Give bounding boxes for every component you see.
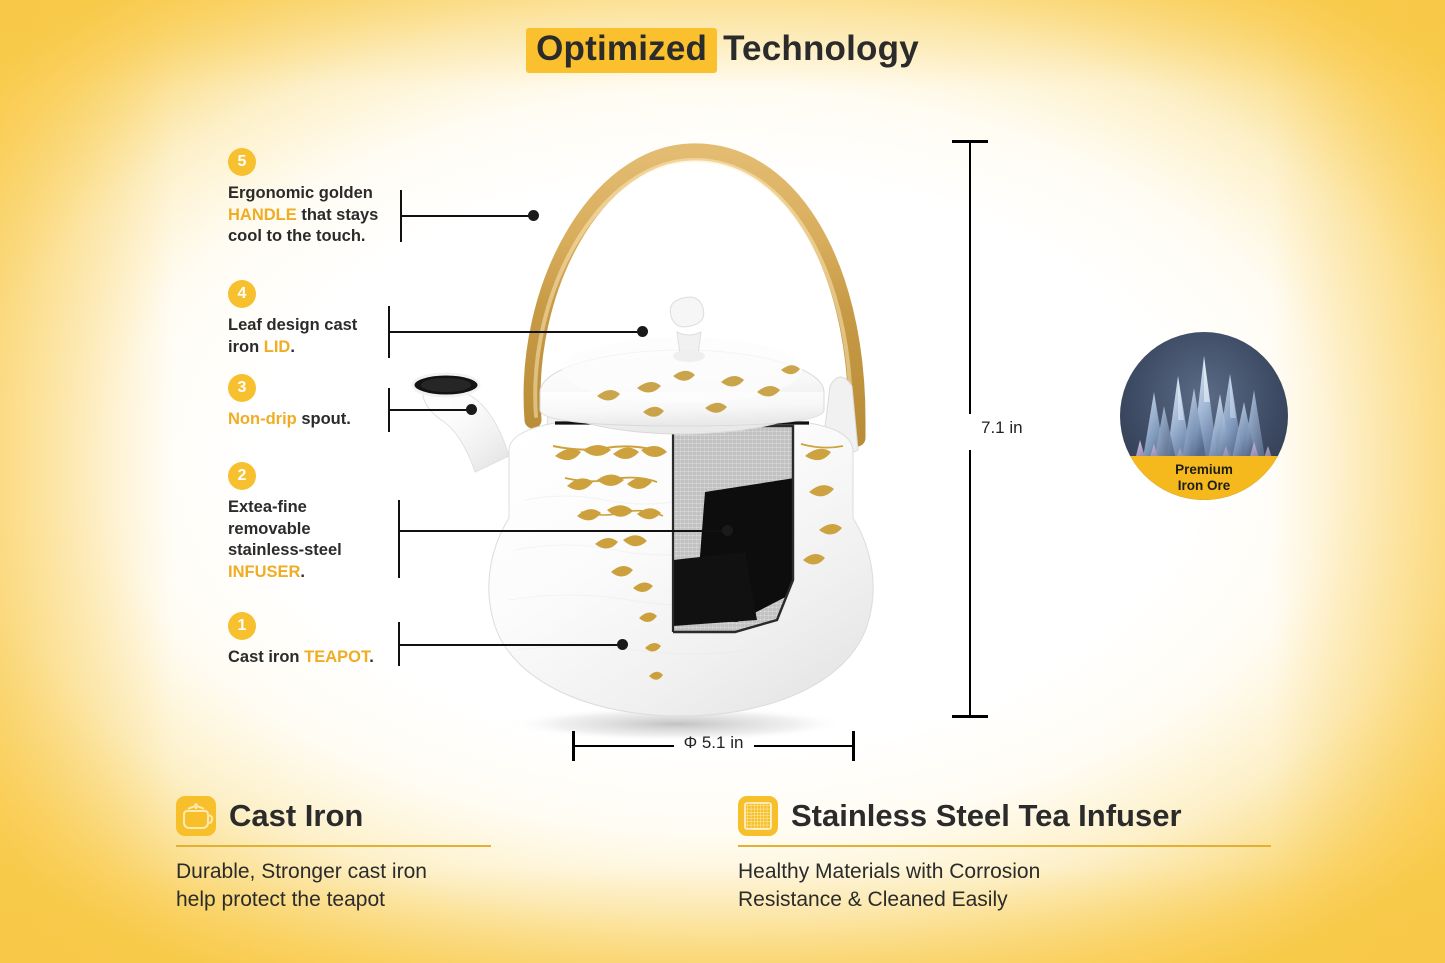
page-title-rest: Technology	[723, 29, 919, 68]
infographic-page: OptimizedTechnology	[0, 0, 1445, 963]
ore-badge-line1: Premium	[1175, 462, 1233, 478]
premium-iron-ore-badge: Premium Iron Ore	[1120, 332, 1288, 500]
page-title-highlight: Optimized	[526, 28, 717, 73]
callout-5-line1: Ergonomic golden	[228, 184, 373, 202]
callout-5-text: Ergonomic golden HANDLE that stays cool …	[228, 183, 428, 248]
feature-tea-infuser: Stainless Steel Tea Infuser Healthy Mate…	[738, 796, 1271, 914]
callout-2-keyword: INFUSER	[228, 563, 300, 581]
feature-cast-iron-header: Cast Iron	[176, 796, 491, 836]
callout-5-keyword: HANDLE	[228, 206, 297, 224]
callout-1-badge: 1	[228, 612, 256, 640]
ore-badge-label: Premium Iron Ore	[1120, 456, 1288, 500]
feature-cast-iron-description: Durable, Stronger cast iron help protect…	[176, 858, 491, 913]
feature-cast-iron: Cast Iron Durable, Stronger cast iron he…	[176, 796, 491, 914]
callout-4-keyword: LID	[264, 338, 291, 356]
callout-5-line3: cool to the touch.	[228, 227, 366, 245]
callout-4-badge: 4	[228, 280, 256, 308]
feature-cast-iron-title: Cast Iron	[229, 798, 363, 834]
callout-1: 1 Cast iron TEAPOT.	[228, 612, 428, 669]
feature-tea-infuser-title: Stainless Steel Tea Infuser	[791, 798, 1182, 834]
callout-4-line2b: .	[290, 338, 295, 356]
feature-cast-iron-rule	[176, 845, 491, 847]
callout-3-line1: spout.	[297, 410, 351, 428]
width-dimension-label: Φ 5.1 in	[677, 733, 751, 753]
callout-4: 4 Leaf design cast iron LID.	[228, 280, 428, 358]
callout-1-line1b: .	[369, 648, 374, 666]
callout-4-line1: Leaf design cast	[228, 316, 357, 334]
callout-2-text: Extea-fine removable stainless-steel INF…	[228, 497, 428, 583]
callout-2-line4: .	[300, 563, 305, 581]
ore-badge-line2: Iron Ore	[1178, 478, 1231, 494]
feature-tea-infuser-rule	[738, 845, 1271, 847]
callout-1-keyword: TEAPOT	[304, 648, 369, 666]
callout-2-badge: 2	[228, 462, 256, 490]
teapot-product-image	[405, 120, 925, 740]
page-title: OptimizedTechnology	[0, 28, 1445, 73]
callout-5: 5 Ergonomic golden HANDLE that stays coo…	[228, 148, 428, 248]
feature-tea-infuser-desc1: Healthy Materials with Corrosion	[738, 860, 1040, 883]
callout-2: 2 Extea-fine removable stainless-steel I…	[228, 462, 428, 583]
callout-4-line2a: iron	[228, 338, 264, 356]
callout-3: 3 Non-drip spout.	[228, 374, 428, 431]
width-dimension: Φ 5.1 in	[572, 745, 855, 747]
feature-cast-iron-desc2: help protect the teapot	[176, 888, 385, 911]
callout-4-text: Leaf design cast iron LID.	[228, 315, 428, 358]
feature-tea-infuser-desc2: Resistance & Cleaned Easily	[738, 888, 1008, 911]
feature-tea-infuser-description: Healthy Materials with Corrosion Resista…	[738, 858, 1271, 913]
height-dimension-label: 7.1 in	[981, 418, 1023, 438]
callout-2-line1: Extea-fine	[228, 498, 307, 516]
height-dimension: 7.1 in	[969, 140, 971, 718]
callout-3-keyword: Non-drip	[228, 410, 297, 428]
mesh-grid-icon	[738, 796, 778, 836]
callout-3-badge: 3	[228, 374, 256, 402]
callout-1-line1a: Cast iron	[228, 648, 304, 666]
feature-cast-iron-desc1: Durable, Stronger cast iron	[176, 860, 427, 883]
feature-tea-infuser-header: Stainless Steel Tea Infuser	[738, 796, 1271, 836]
callout-5-line2: that stays	[297, 206, 379, 224]
teapot-icon	[176, 796, 216, 836]
callout-5-badge: 5	[228, 148, 256, 176]
callout-3-text: Non-drip spout.	[228, 409, 428, 431]
callout-2-line2: removable	[228, 520, 311, 538]
callout-1-text: Cast iron TEAPOT.	[228, 647, 428, 669]
callout-2-line3: stainless-steel	[228, 541, 342, 559]
